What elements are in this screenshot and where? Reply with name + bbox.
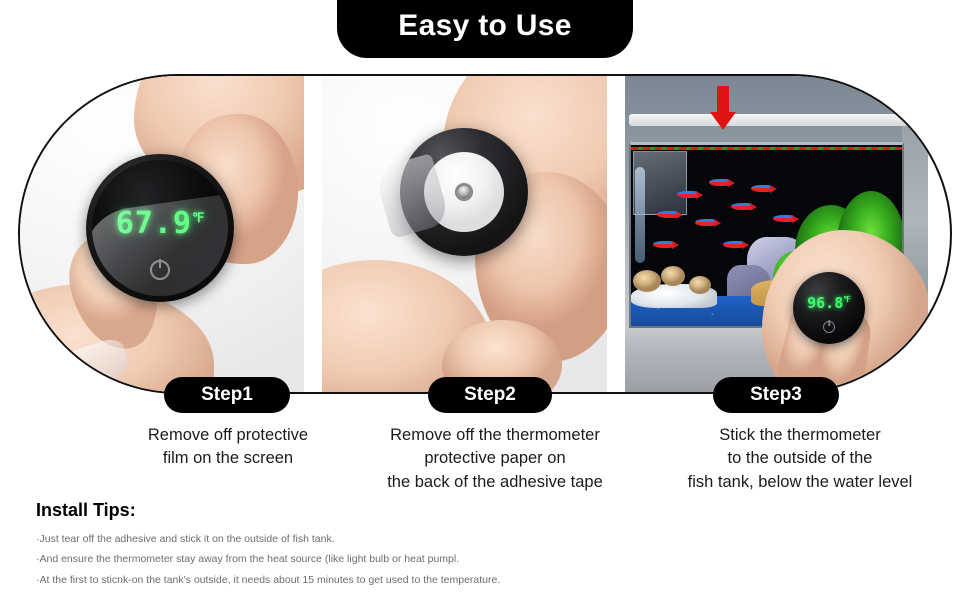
step-caption-2: Remove off the thermometerprotective pap… [365,424,625,494]
thermometer-on-glass: 96.8℉ [793,272,865,344]
fish [773,215,793,222]
fish [731,203,751,210]
panel-gap-1 [304,76,322,392]
step-badge-1: Step1 [164,377,290,413]
pebble [689,276,711,294]
heater-tube [635,167,645,263]
install-tip-line: ·At the first to sticnk-on the tank's ou… [36,570,596,590]
fish [723,241,743,248]
thermometer-device: 67.9℉ [86,154,234,302]
photo-row: 67.9℉ [20,76,950,392]
page-title: Easy to Use [398,11,571,47]
steps-photo-frame: 67.9℉ [18,74,952,394]
tank-hood-light [629,114,920,126]
step-badge-label: Step3 [750,384,802,406]
fish [657,211,677,218]
center-hole [455,183,473,201]
fish [751,185,771,192]
fish [695,219,715,226]
led-value: 96.8 [807,294,843,312]
install-tips-title: Install Tips: [36,500,596,521]
red-down-arrow-icon [713,86,731,130]
step3-photo: 96.8℉ [625,76,928,392]
pebble [633,270,661,292]
step2-photo [322,76,607,392]
led-temperature-readout: 96.8℉ [793,294,865,312]
led-unit: ℉ [843,295,851,304]
fish [653,241,673,248]
power-icon [823,321,835,333]
pebble [661,266,685,286]
water-level-line [631,147,902,150]
step-badge-3: Step3 [713,377,839,413]
step-badge-label: Step2 [464,384,516,406]
step-badge-2: Step2 [428,377,552,413]
step-caption-3: Stick the thermometerto the outside of t… [645,424,955,494]
arrow-head [710,112,736,130]
panel-gap-2 [607,76,625,392]
install-tip-line: ·And ensure the thermometer stay away fr… [36,549,596,569]
arrow-shaft [717,86,729,114]
device-screen: 67.9℉ [92,160,228,296]
step-badge-label: Step1 [201,384,253,406]
fish [709,179,729,186]
step-caption-1: Remove off protectivefilm on the screen [110,424,346,471]
title-banner: Easy to Use [337,0,633,58]
install-tips: Install Tips: ·Just tear off the adhesiv… [36,500,596,590]
step1-photo: 67.9℉ [20,76,304,392]
install-tip-line: ·Just tear off the adhesive and stick it… [36,529,596,549]
fish [677,191,697,198]
